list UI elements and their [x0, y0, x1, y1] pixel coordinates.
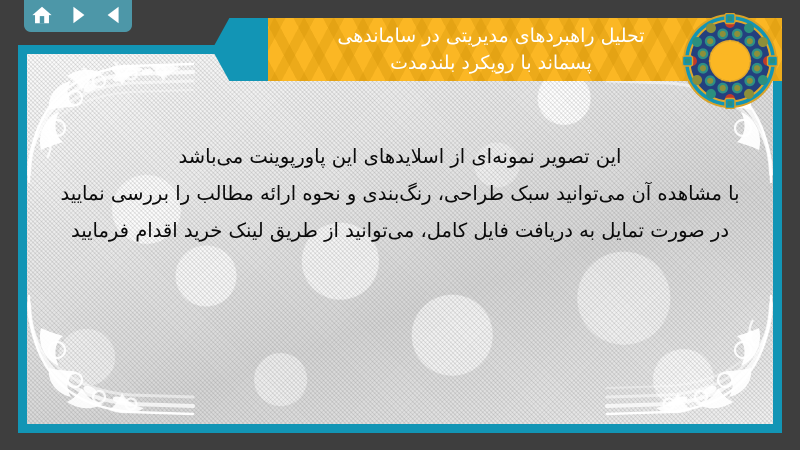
title-line-2: پسماند با رویکرد بلندمدت [278, 50, 704, 77]
slide-body-text: این تصویر نمونه‌ای از اسلایدهای این پاور… [27, 138, 773, 249]
content-panel: این تصویر نمونه‌ای از اسلایدهای این پاور… [18, 45, 782, 433]
navigation-panel [24, 0, 132, 32]
body-line-1: این تصویر نمونه‌ای از اسلایدهای این پاور… [53, 138, 747, 175]
corner-ornament-bottom-left [27, 292, 195, 424]
decorative-medallion [682, 13, 778, 109]
arabesque-corner-icon [27, 292, 195, 424]
next-slide-button[interactable] [65, 3, 91, 27]
title-line-1: تحلیل راهبردهای مدیریتی در ساماندهی [278, 23, 704, 50]
body-line-3: در صورت تمایل به دریافت فایل کامل، می‌تو… [53, 212, 747, 249]
persian-medallion-icon [682, 13, 778, 109]
triangle-right-icon [67, 4, 89, 26]
home-button[interactable] [29, 3, 55, 27]
arabesque-corner-icon [605, 292, 773, 424]
corner-ornament-bottom-right [605, 292, 773, 424]
home-icon [31, 4, 53, 26]
body-line-2: با مشاهده آن می‌توانید سبک طراحی، رنگ‌بن… [53, 175, 747, 212]
slide-canvas: این تصویر نمونه‌ای از اسلایدهای این پاور… [0, 0, 800, 450]
previous-slide-button[interactable] [101, 3, 127, 27]
triangle-left-icon [103, 4, 125, 26]
content-surface: این تصویر نمونه‌ای از اسلایدهای این پاور… [27, 54, 773, 424]
